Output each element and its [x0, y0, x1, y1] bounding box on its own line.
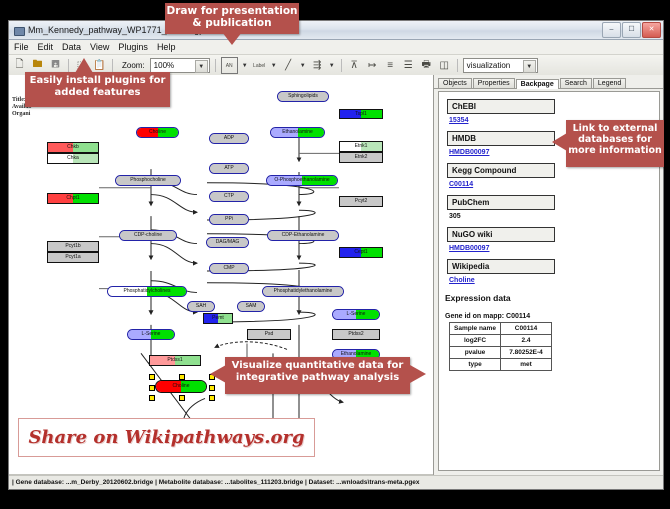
- menubar: File Edit Data View Plugins Help: [9, 40, 663, 55]
- gene-node-etnk1[interactable]: Etnk1: [339, 141, 383, 152]
- row-value-type: met: [501, 359, 552, 371]
- node-label: CDP-choline: [134, 233, 162, 238]
- db-title-kegg: Kegg Compound: [447, 163, 555, 178]
- draw-callout-arrow: [222, 32, 242, 45]
- metabolite-node-ctp[interactable]: CTP: [209, 191, 249, 202]
- node-label: Sphingolipids: [288, 94, 318, 99]
- table-row: pvalue 7.80252E-4: [450, 347, 552, 359]
- selection-handle[interactable]: [179, 374, 185, 380]
- table-row: Sample name C00114: [450, 323, 552, 335]
- tab-backpage[interactable]: Backpage: [516, 79, 559, 89]
- anchor-dropdown-icon[interactable]: ▼: [241, 58, 249, 73]
- visualize-callout-text: Visualize quantitative data for integrat…: [232, 360, 404, 383]
- visualize-callout-arrow-left: [210, 365, 226, 383]
- gene-node-chka[interactable]: Chka: [47, 153, 99, 164]
- node-label: Chkb: [67, 145, 79, 150]
- share-banner: Share on Wikipathways.org: [18, 418, 315, 457]
- label-icon[interactable]: Label: [252, 58, 267, 73]
- db-title-pubchem: PubChem: [447, 195, 555, 210]
- row-value-log2fc: 2.4: [501, 335, 552, 347]
- row-value-sample-name: C00114: [501, 323, 552, 335]
- gene-node-pcyt1b[interactable]: Pcyt1b: [47, 241, 99, 252]
- stack-icon[interactable]: ≡: [383, 58, 398, 73]
- tab-objects[interactable]: Objects: [438, 78, 472, 88]
- gene-node-ptdss1[interactable]: Ptdss1: [149, 355, 201, 366]
- node-label: Etnk1: [355, 144, 368, 149]
- metabolite-node-choline[interactable]: Choline: [136, 127, 179, 138]
- toolbar-separator-5: [457, 59, 458, 72]
- selection-handle[interactable]: [209, 395, 215, 401]
- pathway-canvas[interactable]: SphingolipidsCholineEthanolamineADPATPPh…: [37, 75, 433, 467]
- toolbar-separator-2: [112, 59, 113, 72]
- metabolite-node-atp[interactable]: ATP: [209, 163, 249, 174]
- node-label: L-Serine: [347, 312, 366, 317]
- node-label: Choline: [173, 384, 190, 389]
- node-label: Phosphocholine: [130, 178, 166, 183]
- selection-handle[interactable]: [149, 374, 155, 380]
- zoom-value: 100%: [154, 61, 174, 70]
- node-label: Pcyt1a: [65, 255, 80, 260]
- status-bar-text: | Gene database: ...m_Derby_20120602.bri…: [12, 479, 420, 486]
- window-controls: – ☐ ✕: [602, 22, 661, 38]
- node-label: CTP: [224, 194, 234, 199]
- menu-help[interactable]: Help: [157, 42, 176, 52]
- node-label: Etnk2: [355, 155, 368, 160]
- metabolite-node-o-phosphoethanolamine[interactable]: O-Phosphoethanolamine: [266, 175, 338, 186]
- visualize-callout-arrow-right: [410, 365, 426, 383]
- menu-edit[interactable]: Edit: [38, 42, 54, 52]
- tab-legend[interactable]: Legend: [593, 78, 626, 88]
- receptor-dropdown-icon[interactable]: ▼: [328, 58, 336, 73]
- gene-node-chpt1[interactable]: Chpt1: [47, 193, 99, 204]
- node-label: O-Phosphoethanolamine: [274, 178, 329, 183]
- zoom-label: Zoom:: [122, 61, 145, 70]
- close-button[interactable]: ✕: [642, 22, 661, 38]
- share-banner-text: Share on Wikipathways.org: [28, 427, 304, 448]
- toolbar-separator-1: [68, 59, 69, 72]
- visualization-combo[interactable]: visualization ▼: [463, 58, 538, 73]
- screenshot-root: Mm_Kennedy_pathway_WP1771_45176.gpml – ☐…: [0, 0, 670, 509]
- node-label: Ptdss1: [167, 358, 182, 363]
- links-callout-arrow: [552, 133, 567, 151]
- node-label: Pcyt2: [355, 199, 368, 204]
- line-icon[interactable]: ╱: [281, 58, 296, 73]
- metabolite-node-ethanolamine[interactable]: Ethanolamine: [270, 127, 325, 138]
- db-title-wikipedia: Wikipedia: [447, 259, 555, 274]
- visualize-callout: Visualize quantitative data for integrat…: [225, 357, 410, 394]
- pathway-organism-label: Organi: [12, 111, 30, 117]
- db-value-pubchem: 305: [449, 213, 659, 220]
- metabolite-node-phosphocholine[interactable]: Phosphocholine: [115, 175, 181, 186]
- db-link-nugo[interactable]: HMDB00097: [449, 245, 659, 252]
- tab-properties[interactable]: Properties: [473, 78, 515, 88]
- gene-node-cept1[interactable]: Cept1: [339, 247, 383, 258]
- plugins-callout-text: Easily install plugins for added feature…: [30, 75, 166, 98]
- node-label: Choline: [149, 130, 166, 135]
- plugins-callout: Easily install plugins for added feature…: [25, 72, 170, 107]
- node-label: CMP: [223, 266, 234, 271]
- pathway-title-label: Title:: [12, 97, 26, 103]
- gene-node-pcyt1a[interactable]: Pcyt1a: [47, 252, 99, 263]
- selection-handle[interactable]: [209, 385, 215, 391]
- anchor-icon[interactable]: AN: [221, 57, 238, 74]
- metabolite-node-phosphatidylethanolamine[interactable]: Phosphatidylethanolamine: [262, 286, 344, 297]
- node-label: Psd: [265, 332, 274, 337]
- metabolite-node-adp[interactable]: ADP: [209, 133, 249, 144]
- metabolite-node-l-serine[interactable]: L-Serine: [127, 329, 175, 340]
- db-title-chebi: ChEBI: [447, 99, 555, 114]
- align-bottom-icon[interactable]: ⊼: [347, 58, 362, 73]
- metabolite-node-cdp-choline[interactable]: CDP-choline: [119, 230, 177, 241]
- plugins-callout-arrow: [75, 58, 93, 73]
- db-title-nugo: NuGO wiki: [447, 227, 555, 242]
- zoom-combo[interactable]: 100% ▼: [150, 58, 210, 73]
- menu-view[interactable]: View: [90, 42, 109, 52]
- node-label: Tspl1: [355, 112, 367, 117]
- db-link-kegg[interactable]: C00114: [449, 181, 659, 188]
- node-label: PPi: [225, 217, 233, 222]
- maximize-button[interactable]: ☐: [622, 22, 641, 38]
- window-titlebar: Mm_Kennedy_pathway_WP1771_45176.gpml – ☐…: [9, 21, 663, 40]
- db-link-wikipedia[interactable]: Choline: [449, 277, 659, 284]
- node-label: Pcyt1b: [65, 244, 80, 249]
- row-label-pvalue: pvalue: [450, 347, 501, 359]
- side-panel-tabs: Objects Properties Backpage Search Legen…: [434, 75, 663, 89]
- print-icon[interactable]: 🖶: [419, 58, 434, 73]
- metabolite-node-phosphatidylcholines[interactable]: Phosphatidylcholines: [107, 286, 187, 297]
- table-row: log2FC 2.4: [450, 335, 552, 347]
- metabolite-node-dag-mag[interactable]: DAG/MAG: [206, 237, 249, 248]
- node-label: L-Serine: [142, 332, 161, 337]
- paste-icon[interactable]: 📋: [92, 58, 107, 73]
- visualization-chevron-down-icon[interactable]: ▼: [523, 60, 536, 73]
- node-label: Chpt1: [66, 196, 79, 201]
- db-title-hmdb: HMDB: [447, 131, 555, 146]
- open-folder-icon[interactable]: 🖿: [30, 58, 45, 73]
- node-label: Phosphatidylethanolamine: [274, 289, 333, 294]
- new-file-icon[interactable]: 🗋: [12, 58, 27, 73]
- table-row: type met: [450, 359, 552, 371]
- node-label: SAH: [196, 304, 206, 309]
- sidebar-icon[interactable]: ◫: [437, 58, 452, 73]
- draw-callout-text: Draw for presentation & publication: [166, 5, 297, 29]
- expression-data-table: Sample name C00114 log2FC 2.4 pvalue 7.8…: [449, 322, 552, 371]
- node-label: ATP: [224, 166, 233, 171]
- gene-node-psd[interactable]: Psd: [247, 329, 291, 340]
- save-icon[interactable]: 🖪: [48, 58, 63, 73]
- label-dropdown-icon[interactable]: ▼: [270, 58, 278, 73]
- chevron-down-icon[interactable]: ▼: [195, 60, 208, 73]
- visualization-value: visualization: [467, 61, 511, 70]
- expression-data-header: Expression data: [445, 293, 659, 303]
- minimize-button[interactable]: –: [602, 22, 621, 38]
- gene-node-pcyt2[interactable]: Pcyt2: [339, 196, 383, 207]
- metabolite-node-ppi[interactable]: PPi: [209, 214, 249, 225]
- metabolite-node-sphingolipids[interactable]: Sphingolipids: [277, 91, 329, 102]
- row-label-type: type: [450, 359, 501, 371]
- row-label-log2fc: log2FC: [450, 335, 501, 347]
- draw-callout: Draw for presentation & publication: [165, 3, 299, 34]
- gene-node-chkb[interactable]: Chkb: [47, 142, 99, 153]
- node-label: DAG/MAG: [216, 240, 240, 245]
- node-label: Ethanolamine: [282, 130, 313, 135]
- row-label-sample-name: Sample name: [450, 323, 501, 335]
- node-label: Phosphatidylcholines: [124, 289, 171, 294]
- app-icon: [13, 25, 24, 36]
- metabolite-node-sah[interactable]: SAH: [187, 301, 215, 312]
- selected-node-choline[interactable]: Choline: [155, 380, 207, 393]
- menu-file[interactable]: File: [14, 42, 29, 52]
- align-left-icon[interactable]: ↦: [365, 58, 380, 73]
- gene-node-etnk2[interactable]: Etnk2: [339, 152, 383, 163]
- selection-handle[interactable]: [149, 395, 155, 401]
- node-label: Ptdss2: [348, 332, 363, 337]
- row-value-pvalue: 7.80252E-4: [501, 347, 552, 359]
- metabolite-node-l-serine[interactable]: L-Serine: [332, 309, 380, 320]
- node-label: ADP: [224, 136, 234, 141]
- toolbar-separator-3: [215, 59, 216, 72]
- gene-node-pemt[interactable]: Pemt: [203, 313, 233, 324]
- tab-search[interactable]: Search: [560, 78, 592, 88]
- node-label: Pemt: [212, 316, 224, 321]
- menu-data[interactable]: Data: [62, 42, 81, 52]
- toolbar-separator-4: [341, 59, 342, 72]
- menu-plugins[interactable]: Plugins: [118, 42, 148, 52]
- links-callout: Link to external databases for more info…: [566, 120, 664, 167]
- gene-node-ptdss2[interactable]: Ptdss2: [332, 329, 380, 340]
- node-label: Chka: [67, 156, 79, 161]
- status-bar: | Gene database: ...m_Derby_20120602.bri…: [9, 475, 663, 489]
- node-label: Cept1: [354, 250, 367, 255]
- metabolite-node-cdp-ethanolamine[interactable]: CDP-Ethanolamine: [267, 230, 339, 241]
- metabolite-node-cmp[interactable]: CMP: [209, 263, 249, 274]
- links-callout-text: Link to external databases for more info…: [568, 123, 662, 156]
- node-label: SAM: [246, 304, 257, 309]
- receptor-icon[interactable]: ⇶: [310, 58, 325, 73]
- node-label: CDP-Ethanolamine: [282, 233, 325, 238]
- metabolite-node-sam[interactable]: SAM: [237, 301, 265, 312]
- selection-handle[interactable]: [179, 395, 185, 401]
- line-dropdown-icon[interactable]: ▼: [299, 58, 307, 73]
- gene-node-tspl1[interactable]: Tspl1: [339, 109, 383, 119]
- selection-handle[interactable]: [149, 385, 155, 391]
- distribute-icon[interactable]: ☰: [401, 58, 416, 73]
- gene-id-line: Gene id on mapp: C00114: [445, 313, 659, 320]
